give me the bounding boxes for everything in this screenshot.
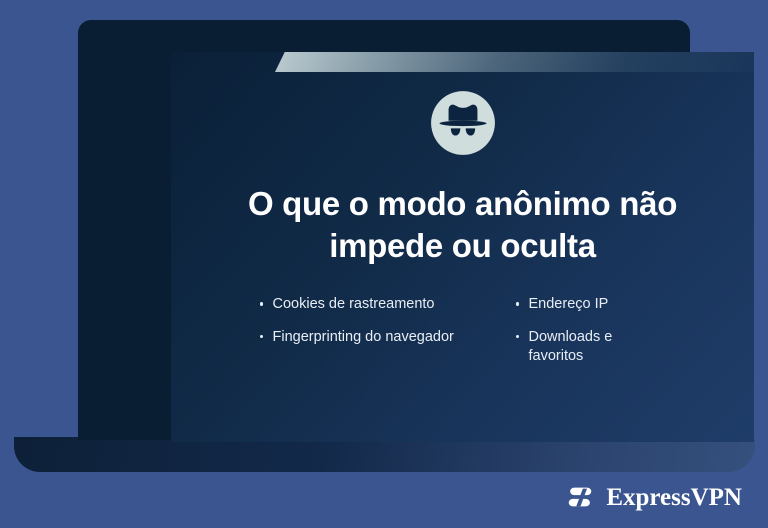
- brand-name: ExpressVPN: [606, 485, 742, 510]
- bullet-columns: Cookies de rastreamento Fingerprinting d…: [171, 295, 754, 365]
- expressvpn-logo-mark-icon: [565, 482, 595, 512]
- laptop-screen: O que o modo anônimo não impede ou ocult…: [171, 52, 754, 442]
- laptop-base: [14, 437, 755, 472]
- list-item: Downloads e favoritos: [516, 328, 666, 366]
- list-item: Fingerprinting do navegador: [260, 328, 478, 347]
- incognito-icon: [425, 85, 501, 161]
- page-title: O que o modo anônimo não impede ou ocult…: [203, 183, 723, 267]
- list-item: Cookies de rastreamento: [260, 295, 478, 314]
- infographic-slide: O que o modo anônimo não impede ou ocult…: [0, 0, 768, 528]
- screen-content: O que o modo anônimo não impede ou ocult…: [171, 52, 754, 442]
- bullet-column-right: Endereço IP Downloads e favoritos: [516, 295, 666, 365]
- list-item: Endereço IP: [516, 295, 666, 314]
- bullet-column-left: Cookies de rastreamento Fingerprinting d…: [260, 295, 478, 346]
- brand-lockup: ExpressVPN: [565, 482, 742, 512]
- laptop-lid: O que o modo anônimo não impede ou ocult…: [78, 20, 690, 440]
